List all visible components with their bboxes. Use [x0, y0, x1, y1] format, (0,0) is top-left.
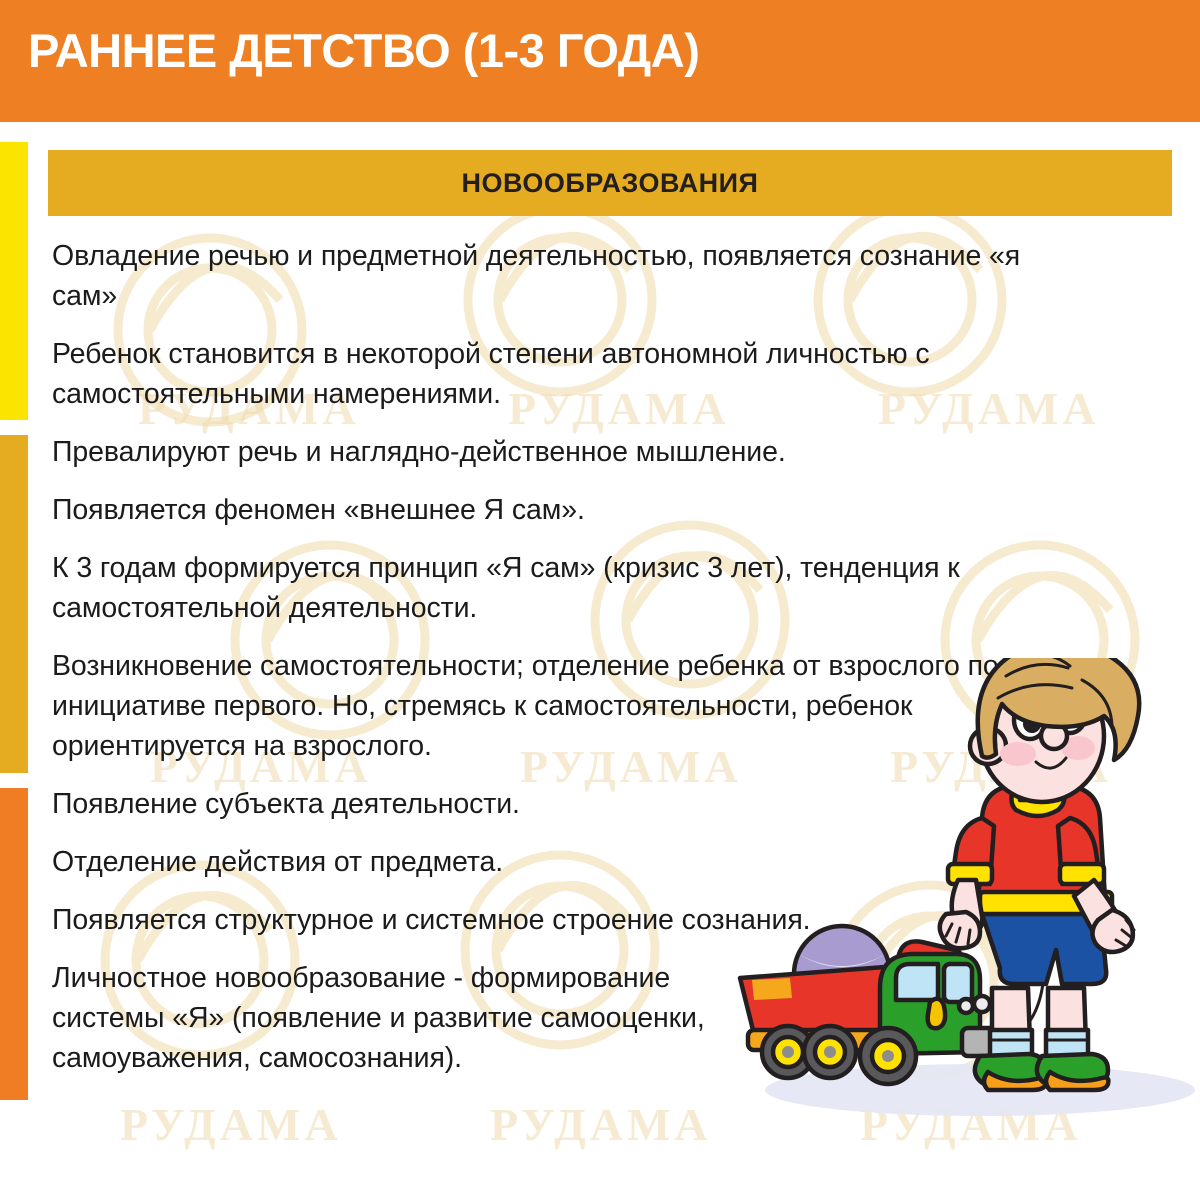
content-list: Овладение речью и предметной деятельност… — [52, 236, 1172, 1096]
list-item: Появляется структурное и системное строе… — [52, 900, 1012, 940]
accent-bar-yellow — [0, 142, 28, 420]
list-item: Появление субъекта деятельности. — [52, 784, 1172, 824]
list-item: Превалируют речь и наглядно-действенное … — [52, 432, 1172, 472]
section-title: НОВООБРАЗОВАНИЯ — [48, 150, 1172, 216]
list-item: Личностное новообразование - формировани… — [52, 958, 752, 1078]
list-item: Появляется феномен «внешнее Я сам». — [52, 490, 1172, 530]
list-item: Ребенок становится в некоторой степени а… — [52, 334, 1172, 414]
section-title-bar: НОВООБРАЗОВАНИЯ — [48, 150, 1172, 216]
slide-root: РУДАМА РУДАМА РУДАМА РУДАМА РУДАМА РУДАМ… — [0, 0, 1200, 1200]
watermark-text: РУДАМА — [490, 1098, 712, 1151]
page-title: РАННЕЕ ДЕТСТВО (1-3 ГОДА) — [28, 27, 699, 74]
list-item: К 3 годам формируется принцип «Я сам» (к… — [52, 548, 1172, 628]
list-item: Отделение действия от предмета. — [52, 842, 1172, 882]
accent-bar-orange — [0, 788, 28, 1100]
header-bar: РАННЕЕ ДЕТСТВО (1-3 ГОДА) — [0, 0, 1200, 122]
watermark-text: РУДАМА — [120, 1098, 342, 1151]
watermark-text: РУДАМА — [860, 1098, 1082, 1151]
list-item: Овладение речью и предметной деятельност… — [52, 236, 1052, 316]
list-item: Возникновение самостоятельности; отделен… — [52, 646, 1052, 766]
accent-bar-gold — [0, 435, 28, 773]
